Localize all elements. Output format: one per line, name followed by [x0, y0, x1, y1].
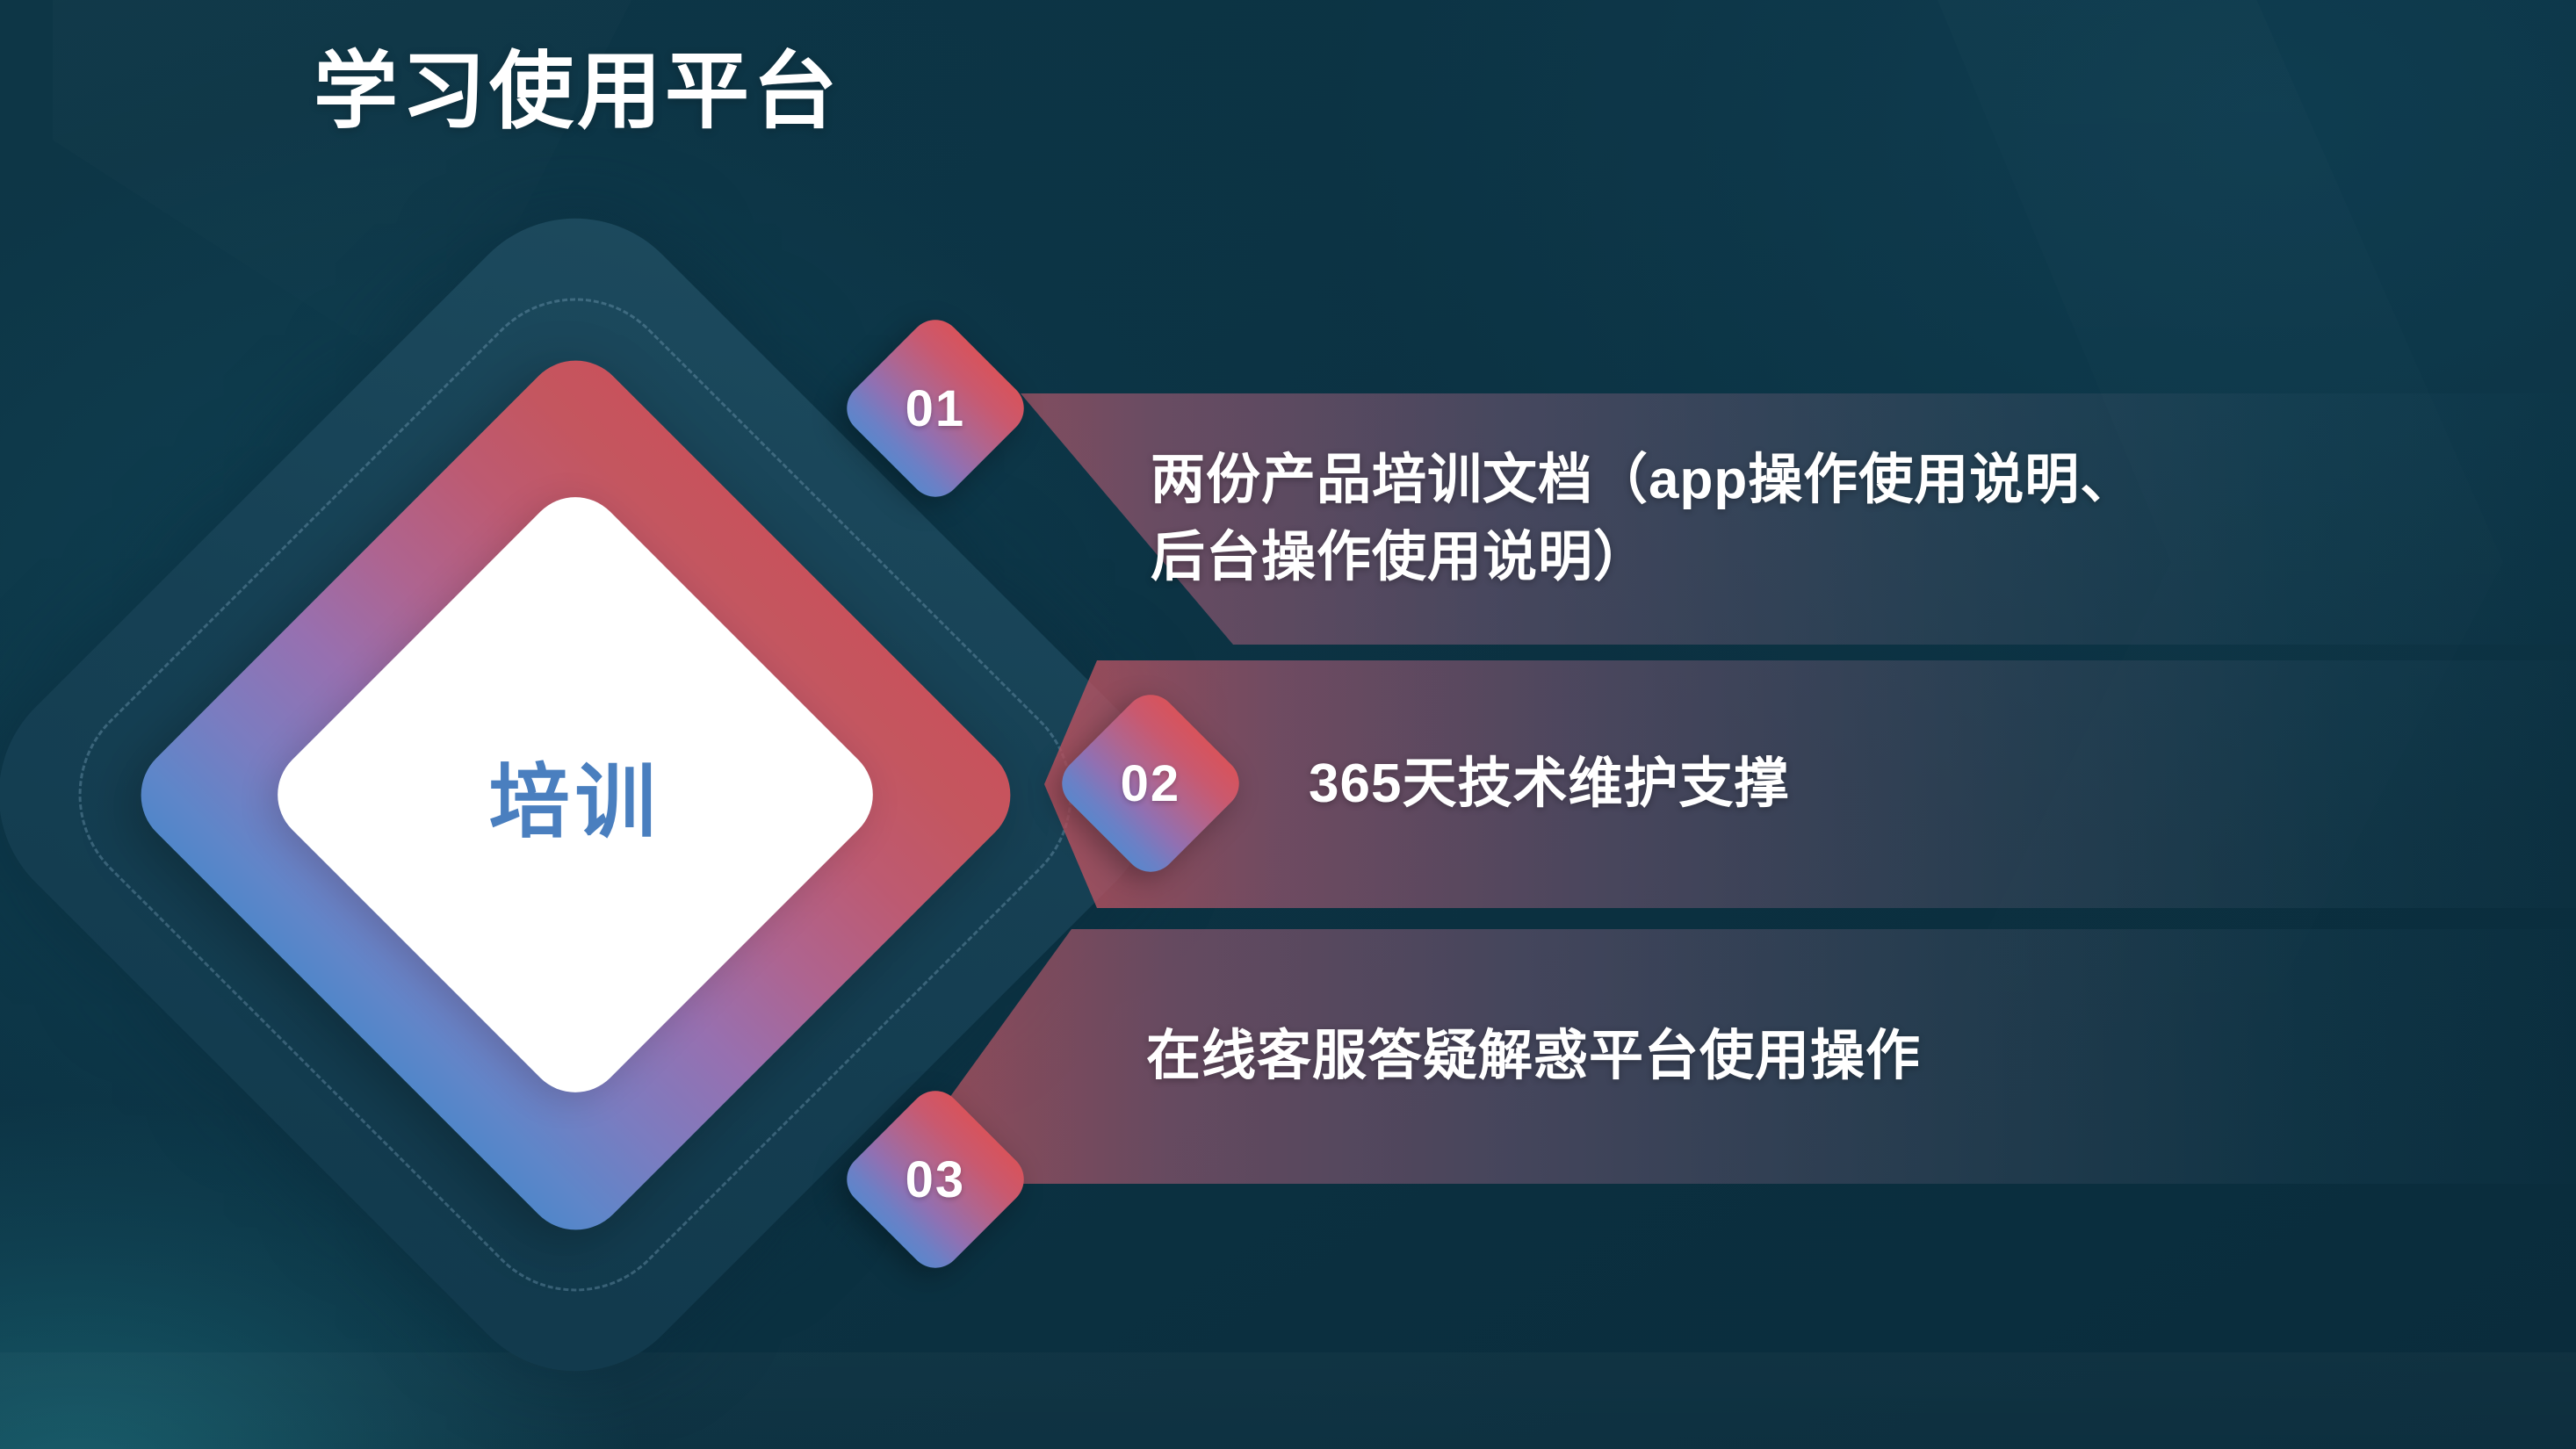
content-band-03[interactable]: 在线客服答疑解惑平台使用操作	[887, 929, 2576, 1184]
number-badge-label-03: 03	[906, 1150, 966, 1208]
hub-label: 培训	[489, 736, 661, 853]
hub-diamond: 培训	[132, 351, 1019, 1238]
number-badge-label-01: 01	[906, 378, 966, 437]
background-bottom-band	[0, 1352, 2576, 1449]
content-band-02[interactable]: 365天技术维护支撑	[1032, 660, 2576, 908]
number-badge-label-02: 02	[1121, 753, 1181, 812]
page-title: 学习使用平台	[314, 46, 841, 139]
content-band-01[interactable]: 两份产品培训文档（app操作使用说明、 后台操作使用说明）	[887, 393, 2576, 645]
band-text-02: 365天技术维护支撑	[1309, 746, 1789, 823]
band-text-01: 两份产品培训文档（app操作使用说明、 后台操作使用说明）	[1151, 442, 2135, 596]
band-text-03: 在线客服答疑解惑平台使用操作	[1146, 1018, 1921, 1095]
band-background-02	[1032, 660, 2576, 908]
slide-canvas: 学习使用平台 培训 两份产品培训文档（app操作使用说明、 后台操作使用说明） …	[0, 0, 2576, 1449]
